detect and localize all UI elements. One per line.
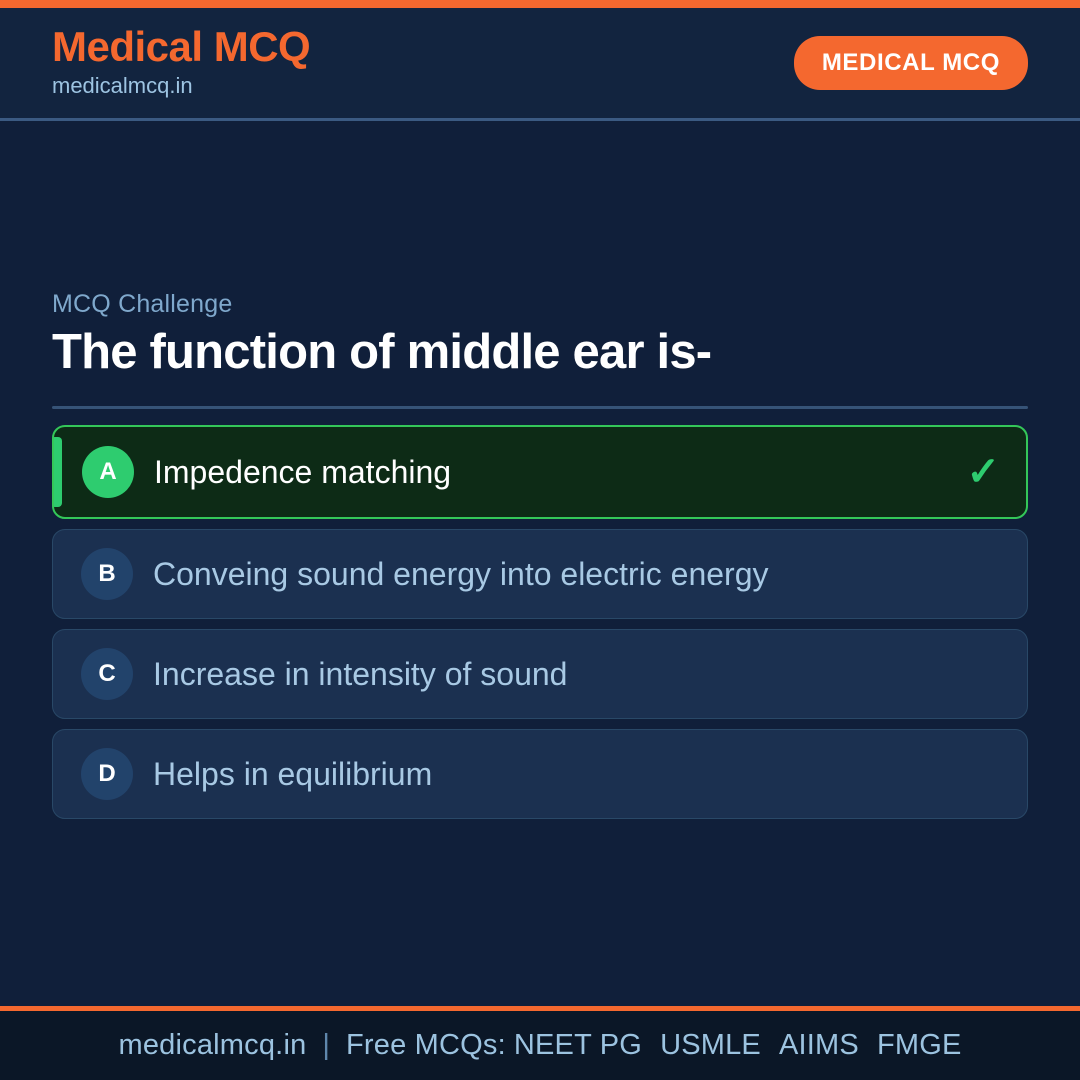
option-letter-badge: D bbox=[81, 748, 133, 800]
brand-subtitle: medicalmcq.in bbox=[52, 71, 310, 102]
question-divider bbox=[52, 406, 1028, 409]
eyebrow-label: MCQ Challenge bbox=[52, 290, 1028, 319]
option-text: Helps in equilibrium bbox=[153, 754, 1001, 794]
option-letter-badge: A bbox=[82, 446, 134, 498]
main-content: MCQ Challenge The function of middle ear… bbox=[0, 121, 1080, 1006]
option-a[interactable]: AImpedence matching✓ bbox=[52, 425, 1028, 519]
brand-title: Medical MCQ bbox=[52, 25, 310, 69]
footer-exam-neet-pg: NEET PG bbox=[514, 1029, 642, 1062]
footer-separator: | bbox=[306, 1029, 346, 1062]
footer-site: medicalmcq.in bbox=[118, 1029, 306, 1062]
mcq-card: Medical MCQ medicalmcq.in MEDICAL MCQ MC… bbox=[0, 0, 1080, 1080]
options-list: AImpedence matching✓BConveing sound ener… bbox=[52, 425, 1028, 819]
option-letter-badge: C bbox=[81, 648, 133, 700]
footer-free-label: Free MCQs: bbox=[346, 1029, 506, 1062]
correct-accent-bar bbox=[54, 437, 62, 507]
brand-badge: MEDICAL MCQ bbox=[794, 36, 1028, 90]
option-b[interactable]: BConveing sound energy into electric ene… bbox=[52, 529, 1028, 619]
option-text: Impedence matching bbox=[154, 452, 950, 492]
footer-exam-usmle: USMLE bbox=[660, 1029, 761, 1062]
option-text: Conveing sound energy into electric ener… bbox=[153, 554, 1001, 594]
footer: medicalmcq.in | Free MCQs: NEET PGUSMLEA… bbox=[0, 1006, 1080, 1080]
footer-exam-aiims: AIIMS bbox=[779, 1029, 859, 1062]
header: Medical MCQ medicalmcq.in MEDICAL MCQ bbox=[0, 8, 1080, 121]
question-text: The function of middle ear is- bbox=[52, 325, 1028, 380]
option-d[interactable]: DHelps in equilibrium bbox=[52, 729, 1028, 819]
footer-exam-list: NEET PGUSMLEAIIMSFMGE bbox=[506, 1029, 962, 1062]
option-letter-badge: B bbox=[81, 548, 133, 600]
top-accent-bar bbox=[0, 0, 1080, 8]
footer-exam-fmge: FMGE bbox=[877, 1029, 962, 1062]
brand-block: Medical MCQ medicalmcq.in bbox=[52, 25, 310, 102]
option-c[interactable]: CIncrease in intensity of sound bbox=[52, 629, 1028, 719]
option-text: Increase in intensity of sound bbox=[153, 654, 1001, 694]
correct-check-icon: ✓ bbox=[966, 452, 1000, 492]
